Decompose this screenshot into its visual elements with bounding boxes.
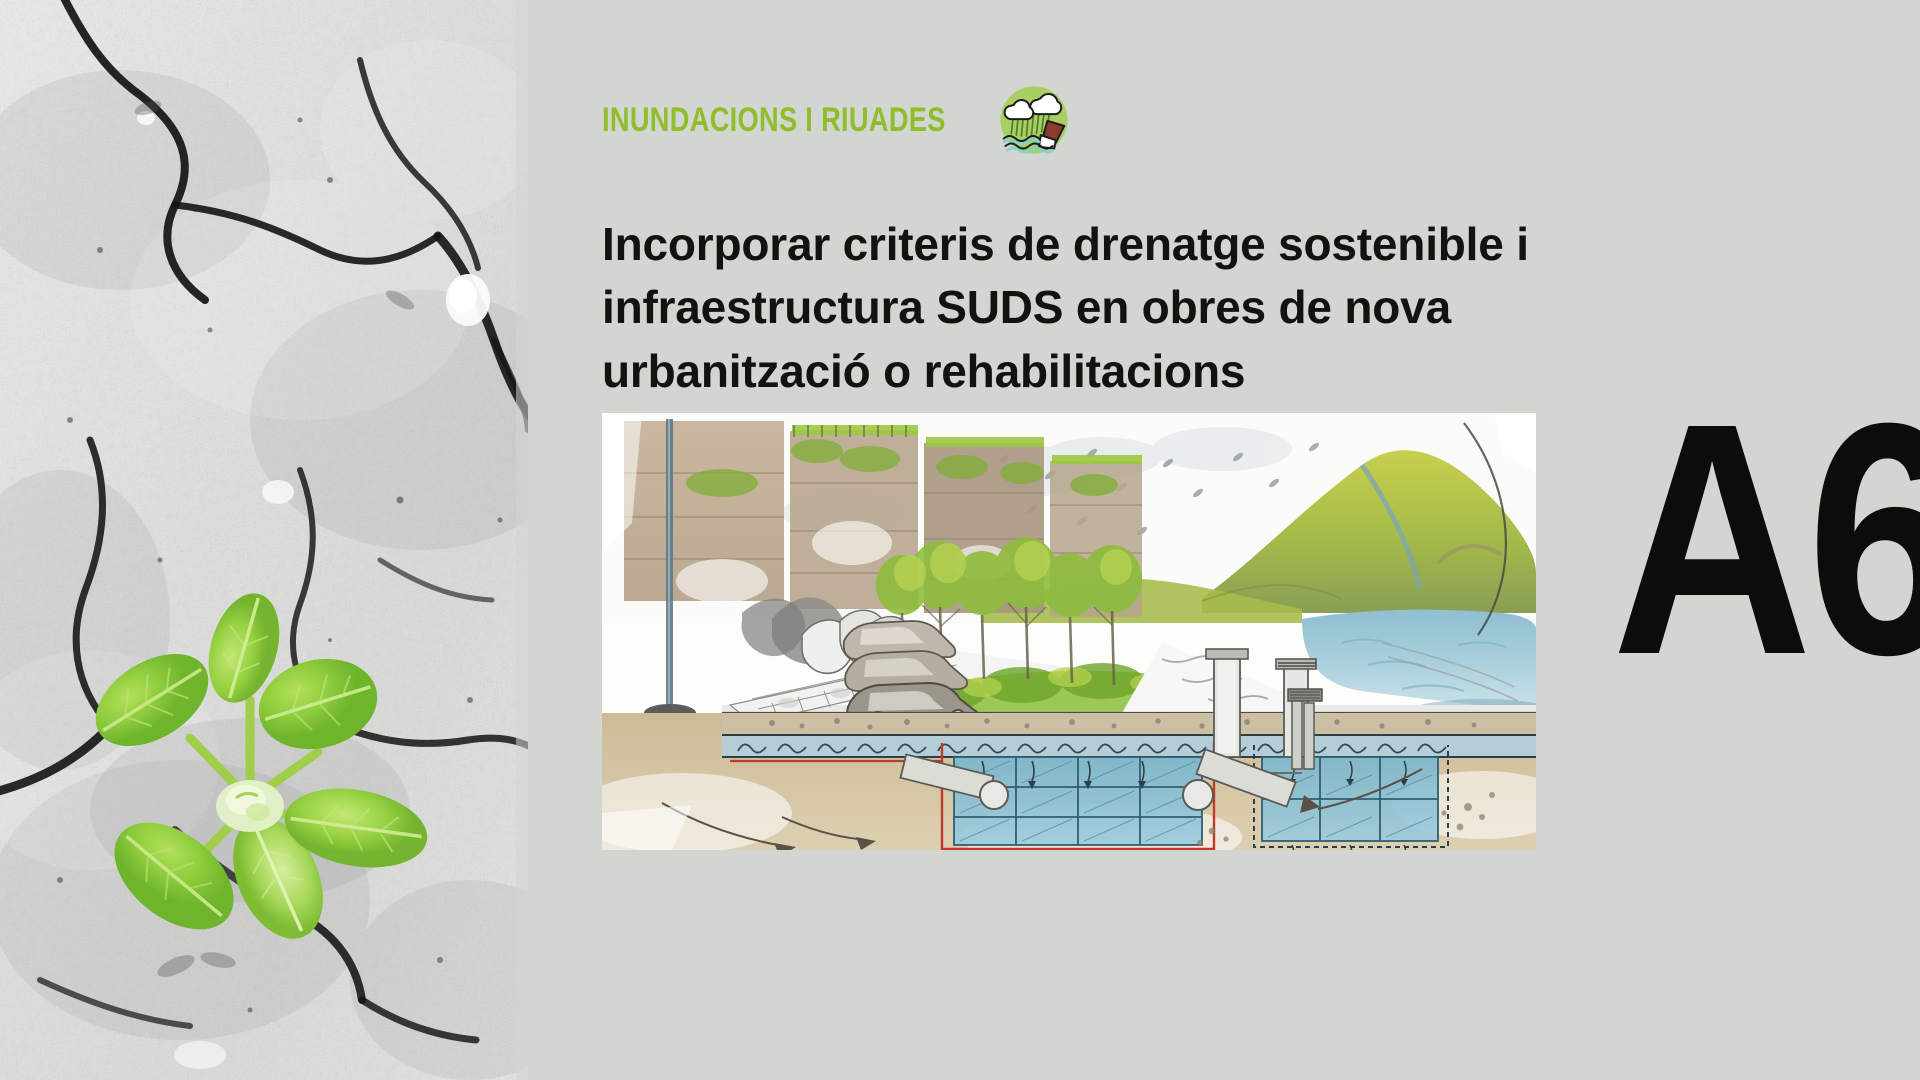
illustration-artwork (602, 413, 1536, 850)
cracked-soil-seedling-photo (0, 0, 528, 1080)
eyebrow: INUNDACIONS I RIUADES (602, 88, 1076, 152)
slide-root: INUNDACIONS I RIUADES (0, 0, 1920, 1080)
eyebrow-label: INUNDACIONS I RIUADES (602, 103, 946, 137)
suds-drainage-cross-section-illustration (602, 413, 1536, 850)
photo-artwork (0, 0, 528, 1080)
slide-code: A6 (1612, 400, 1920, 677)
page-title: Incorporar criteris de drenatge sostenib… (602, 213, 1692, 403)
flood-house-rain-badge-icon (992, 78, 1076, 162)
